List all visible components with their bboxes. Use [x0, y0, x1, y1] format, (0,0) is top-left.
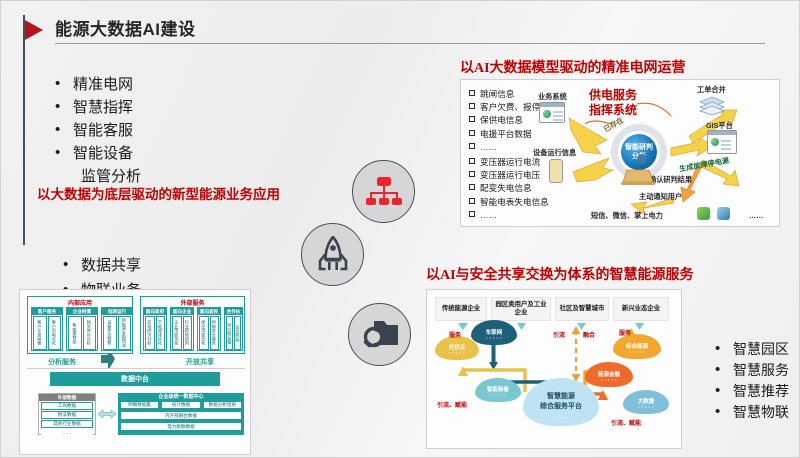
analysis-service-label: 分析服务: [48, 357, 76, 367]
cloud-node: 能源金融: [585, 362, 633, 387]
segment-header: 新兴业态企业: [613, 297, 669, 321]
external-group: 面向政府 宏观经济分析 节能减排优化: [143, 307, 167, 351]
external-data-row: 工商数据: [41, 402, 93, 410]
group-item: 居民用能优化: [199, 316, 209, 350]
rocket-icon: [301, 223, 364, 286]
upward-arrow-icon: [94, 354, 134, 368]
business-system-screen-icon: [539, 102, 565, 123]
group-item: 设备状态预警: [103, 316, 117, 350]
enterprise-data-center-box: 企业级统一数据中心 明细数据集 统计数据 数据分析结果 内外部融合数据 电力脱敏…: [118, 393, 244, 435]
platform-cloud: 智慧能源综合服务平台: [523, 378, 599, 426]
external-data-row: ……: [41, 429, 93, 436]
segment-header: 社区及智慧城市: [555, 297, 609, 321]
flow-label-fusion: 融合: [583, 330, 595, 339]
flow-label-attract-left: 引流、赋能: [437, 400, 467, 409]
external-group: 面向企业 企业用能优化 行业趋势研判: [170, 307, 194, 351]
group-item: 征信机构: [234, 316, 241, 350]
notify-user-label: 主动通知用户: [639, 192, 682, 202]
internal-apps-header: 内部应用: [27, 298, 133, 307]
caption-top-right: 以AI大数据模型驱动的精准电网运营: [460, 57, 686, 77]
org-chart-icon: [352, 160, 415, 223]
checkbox-icon: [469, 130, 475, 136]
checkbox-icon: [469, 184, 475, 190]
cloud-node: 综合能源: [613, 334, 661, 359]
external-data-row: 税法数据: [41, 411, 93, 419]
data-center-row: 内外部融合数据: [120, 411, 242, 420]
cloud-node: 大数据: [623, 390, 669, 414]
group-item: 客户全息画像: [33, 316, 47, 350]
checklist-item: 保供电信息: [469, 114, 540, 127]
title-divider: [55, 43, 765, 44]
caption-left: 以大数据为底层驱动的新型能源业务应用: [37, 183, 280, 203]
group-item: 售电量预测: [68, 316, 82, 350]
checklist-item: 智能电表失电信息: [469, 196, 549, 209]
open-share-label: 开放共享: [186, 357, 214, 367]
smart-meter-phone-icon: [549, 159, 563, 183]
bullet-list-primary: 精准电网 智慧指挥 智能客服 智能设备 监管分析: [51, 73, 141, 188]
list-item: 智慧物联: [711, 402, 789, 423]
group-item: 物资库存分析: [83, 316, 97, 350]
list-item: 智慧服务: [711, 360, 789, 381]
energy-service-diagram: 传统能源企业 园区类用户及工业企业 社区及智慧城市 新兴业态企业 光伏云: [426, 289, 682, 449]
triangle-marker-icon: [23, 19, 43, 41]
group-item: 新能源发电预测: [118, 316, 132, 350]
folder-search-icon: [348, 303, 411, 366]
system-title: 供电服务 指挥系统: [589, 88, 637, 118]
data-center-cell: 数据分析结果: [203, 401, 242, 409]
group-title: 企业经营: [67, 308, 97, 315]
group-title: 客户服务: [32, 308, 62, 315]
external-group: 面向居民 居民用能优化 用电安全服务: [197, 307, 221, 351]
group-item: 宏观经济分析: [145, 316, 155, 350]
checklist-item: 电援平台数据: [469, 128, 540, 141]
flow-label-attract-mid: 引流: [553, 330, 565, 339]
device-info-label: 设备运行信息: [533, 148, 576, 158]
checkbox-icon: [469, 198, 475, 204]
checklist-item: 配变失电信息: [469, 182, 549, 195]
group-item: 客户用电优化: [48, 316, 62, 350]
work-order-merge-label: 工单合并: [697, 85, 726, 95]
gis-screen-icon: [707, 130, 737, 154]
checklist-item: ……: [469, 141, 540, 154]
slide-canvas: 能源大数据AI建设 精准电网 智慧指挥 智能客服 智能设备 监管分析 以大数据为…: [0, 0, 800, 458]
business-system-label: 业务系统: [538, 92, 567, 102]
list-item: 智慧园区: [711, 339, 789, 360]
checklist-item: ……: [469, 209, 549, 222]
cloud-node: 智能装备: [475, 378, 521, 402]
bullet-list-right: 智慧园区 智慧服务 智慧推荐 智慧物联: [711, 339, 789, 423]
caption-bottom-right: 以AI与安全共享交换为体系的智慧能源服务: [426, 264, 694, 284]
checkbox-icon: [469, 143, 475, 149]
slide-title-bar: 能源大数据AI建设: [23, 15, 763, 51]
org-chart-glyph: [365, 177, 403, 207]
list-item: 智慧指挥: [51, 96, 141, 119]
group-item: 行业趋势研判: [183, 316, 193, 350]
group-title: 面向居民: [198, 308, 220, 315]
grid-operations-diagram: 跳闸信息 客户欠费、报停 保供电信息 电援平台数据 …… 变压器运行电流 变压器…: [460, 79, 780, 227]
flow-label-attract-right: 引流、赋能: [611, 418, 641, 427]
generate-outage-label: 生成故障停电源: [679, 156, 730, 175]
external-data-row: 其他行业数据: [41, 420, 93, 428]
flow-label-service-right: 服务: [619, 328, 631, 337]
checkbox-icon: [469, 211, 475, 217]
list-item: 智能客服: [51, 119, 141, 142]
data-architecture-diagram: 内部应用 客户服务 客户全息画像 客户用电优化 企业经营 售电量预测 物资库存分…: [19, 289, 251, 455]
rocket-glyph: [316, 236, 350, 274]
data-center-cell: 统计数据: [161, 401, 200, 409]
group-title: 电网运行: [102, 308, 132, 315]
confirm-result-label: 确认研判结果: [649, 175, 692, 185]
internal-group: 电网运行 设备状态预警 新能源发电预测: [101, 307, 133, 351]
checkbox-icon: [469, 116, 475, 122]
group-item: 节能减排优化: [156, 316, 166, 350]
checklist-item: 变压器运行电压: [469, 169, 549, 182]
external-data-header: 外部数据: [39, 394, 95, 401]
internal-group: 客户服务 客户全息画像 客户用电优化: [31, 307, 63, 351]
bidirectional-arrow-icon: [98, 409, 116, 419]
external-data-box: 外部数据 工商数据 税法数据 其他行业数据 ……: [38, 393, 96, 435]
document-stack-icon: [699, 96, 725, 116]
data-center-row: 电力脱敏数据: [120, 422, 242, 431]
checklist-top: 跳闸信息 客户欠费、报停 保供电信息 电援平台数据 ……: [469, 88, 540, 154]
checkbox-icon: [469, 158, 475, 164]
list-item: 智慧推荐: [711, 381, 789, 402]
list-item: 精准电网: [51, 73, 141, 96]
checkbox-icon: [469, 90, 475, 96]
group-title: 面向企业: [171, 308, 193, 315]
ellipsis-label: ……: [749, 211, 763, 220]
channels-label: 短信、微信、掌上电力: [591, 211, 663, 221]
mobile-power-app-icon: [717, 207, 730, 220]
data-middle-platform: 数据中台: [50, 372, 220, 386]
segment-header: 园区类用户及工业企业: [491, 297, 551, 321]
data-center-cell: 明细数据集: [120, 401, 159, 409]
flow-label-service-left: 服务: [449, 330, 461, 339]
external-group: 合作伙伴 供应链金融 征信机构: [224, 307, 243, 351]
cloud-node: 车联网: [471, 320, 517, 345]
group-title: 合作伙伴: [225, 308, 242, 315]
checkbox-icon: [469, 103, 475, 109]
checkbox-icon: [469, 171, 475, 177]
internal-group: 企业经营 售电量预测 物资库存分析: [66, 307, 98, 351]
checklist-item: 跳闸信息: [469, 88, 540, 101]
group-item: 企业用能优化: [172, 316, 182, 350]
enterprise-data-center-header: 企业级统一数据中心: [118, 393, 244, 401]
external-services-header: 外部服务: [140, 298, 245, 307]
group-item: 用电安全服务: [210, 316, 220, 350]
list-item: 智能设备: [51, 142, 141, 165]
list-item: 数据共享: [59, 253, 141, 278]
left-vertical-rule: [23, 15, 25, 245]
checklist-bottom: 变压器运行电流 变压器运行电压 配变失电信息 智能电表失电信息 ……: [469, 156, 549, 222]
segment-header: 传统能源企业: [435, 297, 487, 321]
page-title: 能源大数据AI建设: [55, 15, 196, 40]
wechat-app-icon: [697, 207, 710, 220]
group-title: 面向政府: [144, 308, 166, 315]
laptop-icon: [621, 168, 655, 186]
group-item: 供应链金融: [226, 316, 233, 350]
folder-search-glyph: [360, 318, 400, 352]
checklist-item: 客户欠费、报停: [469, 101, 540, 114]
band-divider: [27, 368, 245, 369]
